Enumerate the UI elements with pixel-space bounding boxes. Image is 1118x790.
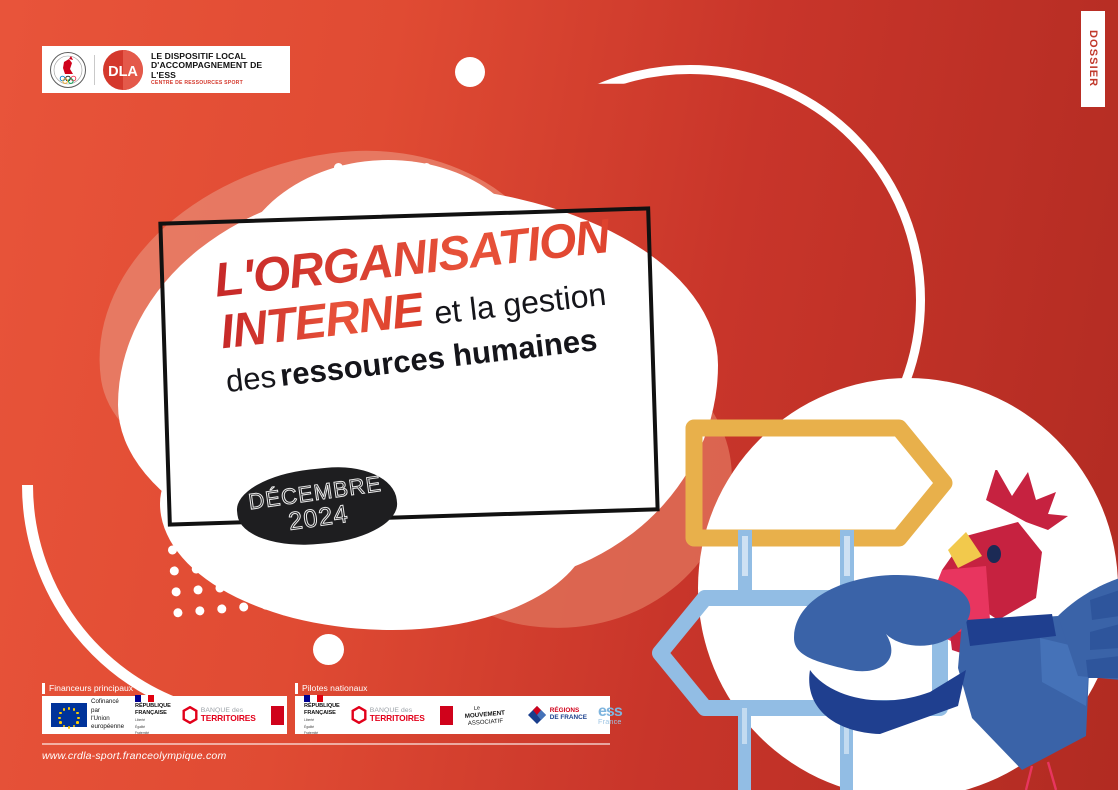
footer-divider — [42, 743, 610, 745]
logo-caisse-des-depots — [436, 706, 453, 725]
footer-group-pilotes: Pilotes nationaux RÉPUBLIQUE FRANÇAISE L… — [295, 683, 610, 734]
footer-group-label: Financeurs principaux — [42, 683, 287, 694]
brand-logo-bar[interactable]: DLA LE DISPOSITIF LOCAL D'ACCOMPAGNEMENT… — [42, 46, 290, 93]
french-flag-icon — [135, 695, 154, 702]
logo-caisse-des-depots — [267, 706, 284, 725]
logo-le-mouvement-associatif: Le MOUVEMENT ASSOCIATIF — [464, 703, 516, 727]
ess-line2: France — [598, 719, 622, 725]
rf-line1: RÉPUBLIQUE — [304, 703, 340, 709]
hexagon-icon — [182, 706, 198, 724]
decorative-dot-bottom — [313, 634, 344, 665]
footer-logo-row: Cofinancé par l'Union européenne RÉPUBLI… — [42, 696, 287, 734]
eu-caption: Cofinancé par l'Union européenne — [91, 698, 124, 731]
rf-line2: FRANÇAISE — [135, 710, 171, 716]
rooster-illustration — [790, 470, 1118, 790]
title-line-2-rest: et la gestion — [433, 278, 608, 329]
dla-tagline-line2: D'ACCOMPAGNEMENT DE L'ESS — [151, 61, 283, 80]
bdt-line2: TERRITOIRES — [201, 714, 256, 723]
rf-motto-3: Fraternité — [304, 731, 340, 735]
eu-flag-icon — [51, 703, 87, 727]
svg-text:DLA: DLA — [108, 64, 138, 80]
french-flag-icon — [304, 695, 323, 702]
logo-republique-francaise: RÉPUBLIQUE FRANÇAISE Liberté Égalité Fra… — [135, 695, 171, 736]
rf-motto-1: Liberté — [135, 718, 171, 722]
hexagon-icon — [351, 706, 367, 724]
footer: Financeurs principaux — [42, 683, 610, 762]
cnosf-seal-icon — [49, 51, 87, 89]
decorative-dot-top — [455, 57, 485, 87]
logo-banque-des-territoires: BANQUE des TERRITOIRES — [182, 706, 256, 724]
rf-motto-2: Égalité — [135, 725, 171, 729]
svg-text:ASSOCIATIF: ASSOCIATIF — [467, 719, 503, 727]
rf-motto-2: Égalité — [304, 725, 340, 729]
logo-divider — [94, 55, 95, 85]
bdt-line2: TERRITOIRES — [370, 714, 425, 723]
dla-monogram-icon: DLA — [102, 49, 144, 91]
logo-ess-france: ess France — [598, 705, 622, 725]
rf-motto-1: Liberté — [304, 718, 340, 722]
dossier-category-tab[interactable]: DOSSIER — [1081, 11, 1105, 107]
date-year: 2024 — [287, 501, 350, 535]
dla-tagline-line3: CENTRE DE RESSOURCES SPORT — [151, 81, 283, 87]
rf-motto-3: Fraternité — [135, 731, 171, 735]
dla-tagline: LE DISPOSITIF LOCAL D'ACCOMPAGNEMENT DE … — [151, 52, 283, 87]
footer-group-financeurs: Financeurs principaux — [42, 683, 287, 734]
cover-page: DLA LE DISPOSITIF LOCAL D'ACCOMPAGNEMENT… — [0, 0, 1118, 790]
eu-caption-line1: Cofinancé par — [91, 698, 124, 715]
rf-line1: RÉPUBLIQUE — [135, 703, 171, 709]
footer-url[interactable]: www.crdla-sport.franceolympique.com — [42, 750, 610, 762]
title-line-3-light: des — [224, 359, 278, 399]
footer-group-label: Pilotes nationaux — [295, 683, 610, 694]
dossier-tab-label: DOSSIER — [1087, 30, 1099, 87]
rf-line2: FRANÇAISE — [304, 710, 340, 716]
logo-european-union: Cofinancé par l'Union européenne — [51, 698, 124, 731]
eu-caption-line2: l'Union européenne — [91, 715, 124, 732]
regions-diamond-icon — [527, 705, 547, 725]
logo-banque-des-territoires: BANQUE des TERRITOIRES — [351, 706, 425, 724]
logo-regions-de-france: RÉGIONS DE FRANCE — [527, 705, 587, 725]
logo-republique-francaise: RÉPUBLIQUE FRANÇAISE Liberté Égalité Fra… — [304, 695, 340, 736]
footer-logo-row: RÉPUBLIQUE FRANÇAISE Liberté Égalité Fra… — [295, 696, 610, 734]
rdf-line2: DE FRANCE — [550, 715, 587, 722]
